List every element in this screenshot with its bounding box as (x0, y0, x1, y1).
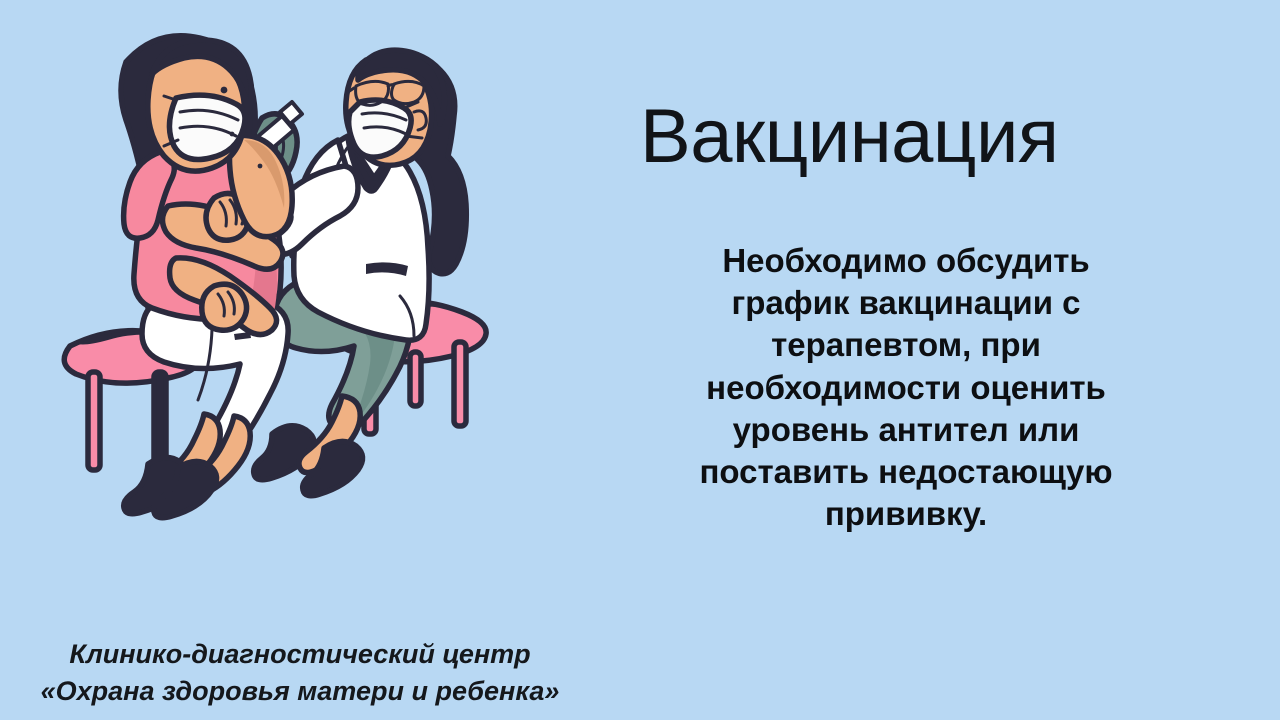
body-line: Необходимо обсудить (636, 240, 1176, 282)
footer-line-2: «Охрана здоровья матери и ребенка» (0, 673, 600, 710)
slide-title: Вакцинация (640, 99, 1240, 175)
body-line: уровень антител или (636, 409, 1176, 451)
vaccination-illustration-svg: .ol { stroke:#2b2a3d; stroke-width:5.5; … (48, 16, 518, 576)
footer-organization: Клинико-диагностический центр «Охрана зд… (0, 636, 600, 711)
vaccination-illustration: .ol { stroke:#2b2a3d; stroke-width:5.5; … (48, 16, 518, 576)
body-line: прививку. (636, 493, 1176, 535)
body-line: необходимости оценить (636, 367, 1176, 409)
body-line: терапевтом, при (636, 324, 1176, 366)
footer-line-1: Клинико-диагностический центр (0, 636, 600, 673)
slide-body-text: Необходимо обсудить график вакцинации с … (636, 240, 1176, 536)
body-line: поставить недостающую (636, 451, 1176, 493)
patient-figure (121, 36, 292, 518)
slide-canvas: .ol { stroke:#2b2a3d; stroke-width:5.5; … (0, 0, 1280, 720)
body-line: график вакцинации с (636, 282, 1176, 324)
